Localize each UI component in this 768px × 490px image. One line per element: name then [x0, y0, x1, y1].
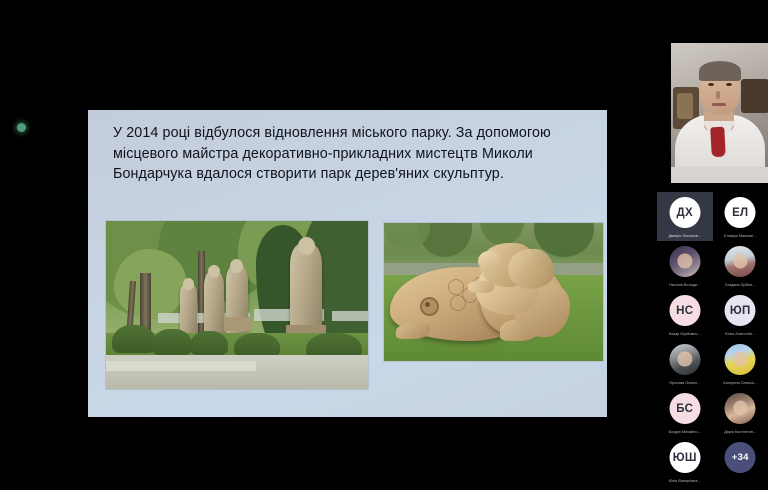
participant-row: ДХДмитро Поносов...ЕЛЕльвіра Миколаї... — [657, 192, 768, 241]
participant-tile[interactable]: БСБогдан Михайло... — [657, 388, 713, 437]
participant-avatar-initials: НС — [669, 295, 700, 326]
participant-tile[interactable]: ДХДмитро Поносов... — [657, 192, 713, 241]
participant-name-label: Дмитро Поносов... — [659, 234, 711, 238]
participant-row: ЮШЮлія Валеріївна...+34 — [657, 437, 768, 486]
video-conference-window: У 2014 році відбулося відновлення місько… — [0, 0, 768, 490]
self-video-tile[interactable] — [657, 31, 768, 183]
avatar-face — [733, 401, 747, 416]
participant-grid[interactable]: ДХДмитро Поносов...ЕЛЕльвіра Миколаї...Н… — [657, 192, 768, 486]
participant-avatar-initials: ЮП — [725, 295, 756, 326]
participant-avatar-photo — [725, 246, 756, 277]
participant-tile[interactable]: ЮШЮлія Валеріївна... — [657, 437, 713, 486]
participant-avatar-initials: ЕЛ — [725, 197, 756, 228]
avatar-image — [725, 246, 756, 277]
park-wooden-sculptures-photo — [105, 220, 369, 390]
participant-rail[interactable]: ДХДмитро Поносов...ЕЛЕльвіра Миколаї...Н… — [657, 0, 768, 490]
slide-body-text: У 2014 році відбулося відновлення місько… — [113, 123, 583, 185]
participant-avatar-photo — [725, 344, 756, 375]
participant-name-label: Богдана Орбан... — [715, 283, 767, 287]
participant-avatar-initials: ДХ — [669, 197, 700, 228]
status-indicator-dot — [17, 123, 26, 132]
self-video-frame — [671, 43, 768, 183]
participant-name-label: Дарія Костянтин... — [715, 430, 767, 434]
avatar-face — [678, 352, 692, 367]
participant-avatar-photo — [669, 344, 700, 375]
participant-name-label: Наталія Володи... — [659, 283, 711, 287]
participant-avatar-photo — [725, 393, 756, 424]
participant-name-label: Юлія Валеріївна... — [659, 479, 711, 483]
mermaid-fish-sculpture-photo — [383, 222, 604, 362]
participant-tile[interactable]: ЮПЮлія Анатоліїв... — [713, 290, 768, 339]
shared-screen-stage[interactable]: У 2014 році відбулося відновлення місько… — [0, 0, 657, 490]
participant-tile[interactable]: Богдана Орбан... — [713, 241, 768, 290]
participant-name-label: Ельвіра Миколаї... — [715, 234, 767, 238]
participant-avatar-photo — [669, 246, 700, 277]
participant-name-label: Назар Юрійович... — [659, 332, 711, 336]
participant-row: Наталія Володи...Богдана Орбан... — [657, 241, 768, 290]
participant-tile[interactable]: Дарія Костянтин... — [713, 388, 768, 437]
avatar-image — [669, 246, 700, 277]
avatar-image — [669, 344, 700, 375]
participant-name-label: Юлія Анатоліїв... — [715, 332, 767, 336]
avatar-image — [725, 344, 756, 375]
participant-tile[interactable]: НСНазар Юрійович... — [657, 290, 713, 339]
avatar-face — [733, 254, 747, 269]
avatar-face — [678, 254, 692, 269]
participant-name-label: Богдан Михайло... — [659, 430, 711, 434]
participant-tile[interactable]: Наталія Володи... — [657, 241, 713, 290]
participant-tile[interactable]: +34 — [713, 437, 768, 486]
participant-tile[interactable]: Катерина Олекса... — [713, 339, 768, 388]
participant-name-label: Катерина Олекса... — [715, 381, 767, 385]
participant-row: БСБогдан Михайло...Дарія Костянтин... — [657, 388, 768, 437]
slide-image-row — [105, 220, 595, 395]
participant-name-label: Ярослав Олексі... — [659, 381, 711, 385]
overflow-count-badge: +34 — [725, 442, 756, 473]
participant-tile[interactable]: Ярослав Олексі... — [657, 339, 713, 388]
participant-row: НСНазар Юрійович...ЮПЮлія Анатоліїв... — [657, 290, 768, 339]
participant-avatar-initials: БС — [669, 393, 700, 424]
participant-row: Ярослав Олексі...Катерина Олекса... — [657, 339, 768, 388]
participant-tile[interactable]: ЕЛЕльвіра Миколаї... — [713, 192, 768, 241]
avatar-face — [733, 352, 747, 367]
presentation-slide[interactable]: У 2014 році відбулося відновлення місько… — [88, 110, 607, 417]
participant-avatar-initials: ЮШ — [669, 442, 700, 473]
avatar-image — [725, 393, 756, 424]
